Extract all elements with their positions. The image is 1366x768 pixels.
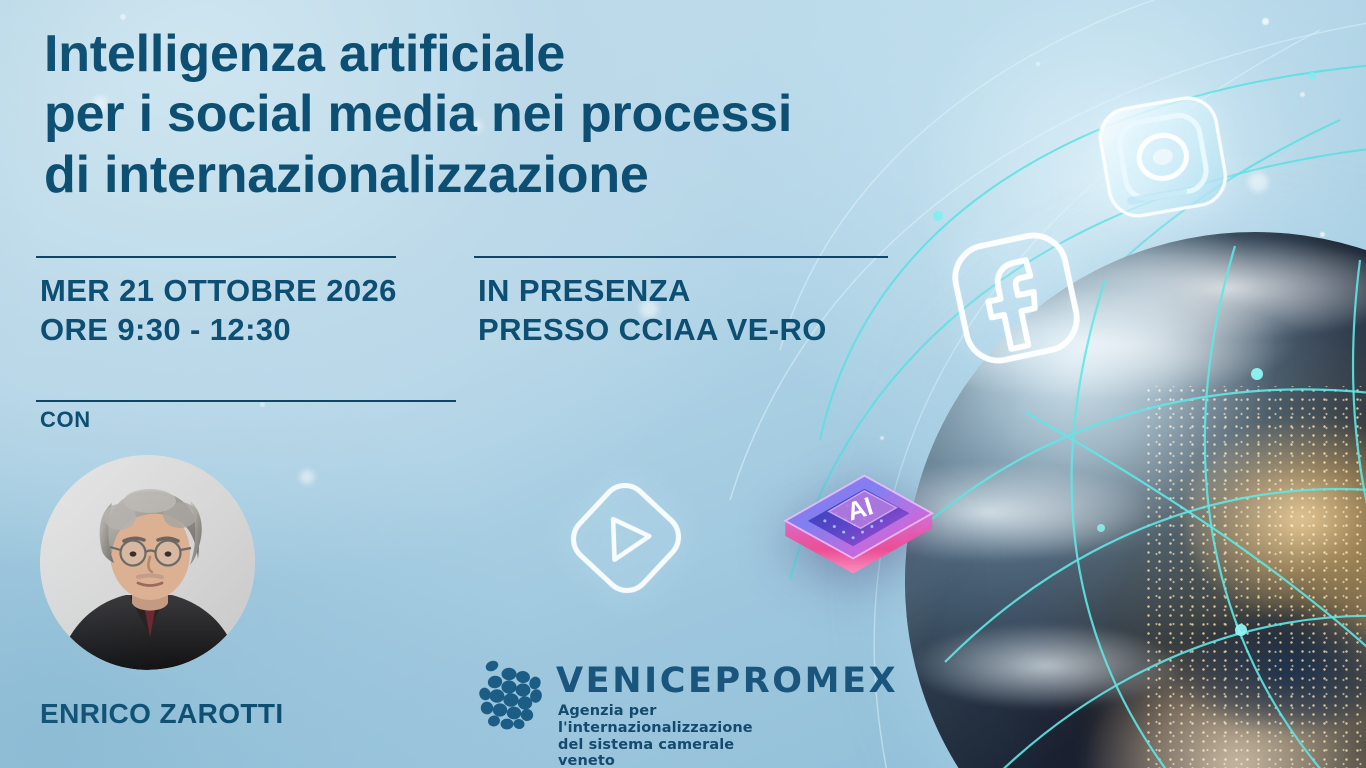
event-poster: AI Intelligenza artificiale per i social…: [0, 0, 1366, 768]
logo-wordmark: VENICEPROMEX: [556, 661, 898, 701]
event-location: IN PRESENZA PRESSO CCIAA VE-RO: [478, 271, 827, 350]
ai-chip-icon: AI: [770, 438, 940, 598]
page-title: Intelligenza artificiale per i social me…: [44, 24, 924, 205]
speaker-name: ENRICO ZAROTTI: [40, 698, 284, 730]
instagram-icon: [1085, 85, 1240, 231]
divider-mode: [474, 256, 888, 258]
venicepromex-logo: VENICEPROMEX Agenzia per l'internazional…: [478, 655, 778, 739]
logo-tagline: Agenzia per l'internazionalizzazione del…: [558, 703, 778, 768]
play-video-icon: [558, 470, 695, 607]
with-label: CON: [40, 407, 91, 433]
venicepromex-sphere-logo-icon: [478, 658, 548, 732]
event-date-time: MER 21 OTTOBRE 2026 ORE 9:30 - 12:30: [40, 271, 397, 350]
divider-speaker: [36, 400, 456, 402]
divider-date: [36, 256, 396, 258]
speaker-avatar: [40, 455, 255, 670]
